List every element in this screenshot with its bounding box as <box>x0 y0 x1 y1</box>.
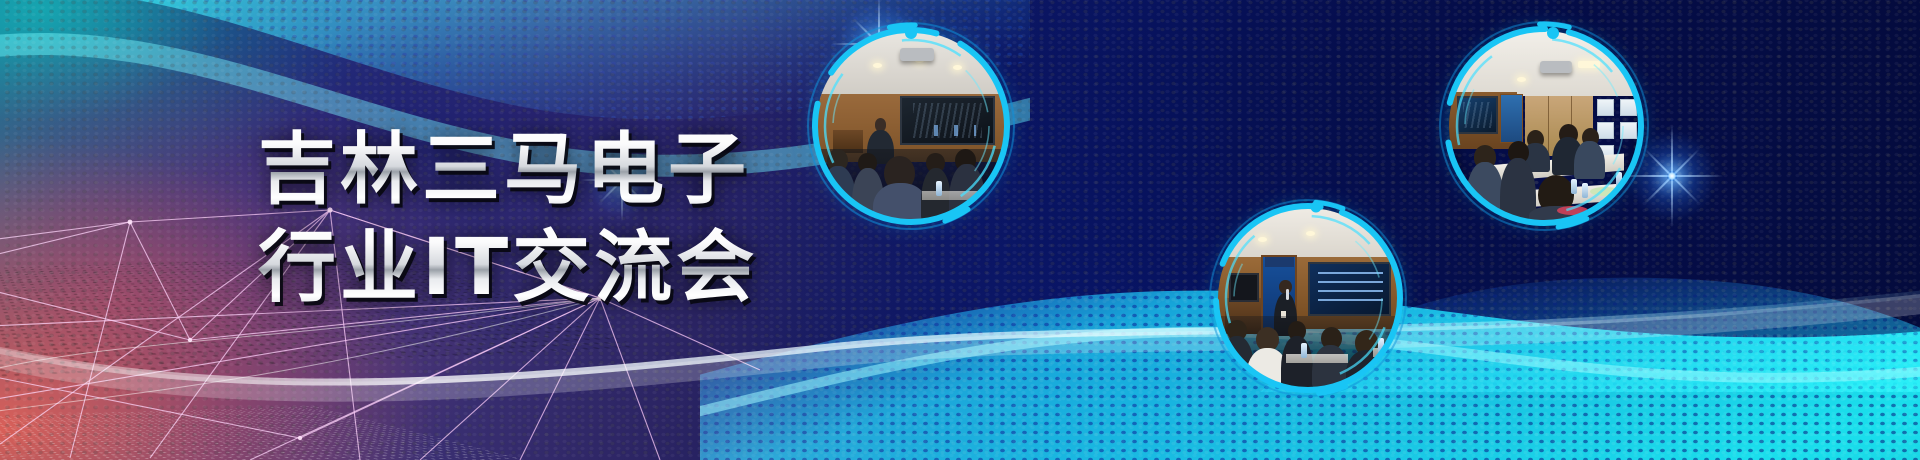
title-line-2: 行业IT交流会 <box>258 222 758 314</box>
title-line-1: 吉林三马电子 <box>258 124 758 216</box>
photo-training-room-side[interactable] <box>1432 14 1656 238</box>
photo-frame-rings-3 <box>1202 192 1414 404</box>
event-hero-banner: 吉林三马电子 行业IT交流会 <box>0 0 1920 460</box>
photo-speaker-microphone[interactable] <box>1202 192 1414 404</box>
photo-frame-rings-2 <box>1432 14 1656 238</box>
photo-conference-presenter[interactable] <box>800 15 1022 237</box>
photo-frame-rings-1 <box>800 15 1022 237</box>
banner-title: 吉林三马电子 行业IT交流会 <box>258 124 758 314</box>
